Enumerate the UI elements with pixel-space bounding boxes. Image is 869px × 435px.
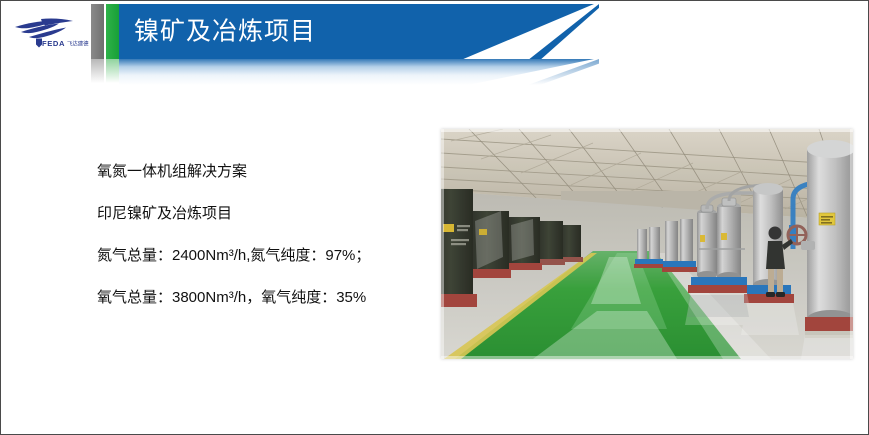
body-line-project: 印尼镍矿及冶炼项目 bbox=[97, 206, 437, 221]
page-title: 镍矿及冶炼项目 bbox=[134, 19, 316, 44]
green-accent-bar bbox=[106, 4, 119, 59]
grey-accent-bar-reflection bbox=[91, 59, 104, 83]
body-line-oxygen-spec: 氧气总量：3800Nm³/h，氧气纯度：35% bbox=[97, 290, 437, 305]
logo-subtext: 飞达建德 bbox=[67, 40, 89, 48]
plant-interior-illustration bbox=[441, 129, 853, 359]
slide-header: FEDA 飞达建德 镍矿及冶炼项目 bbox=[1, 1, 869, 87]
green-accent-bar-reflection bbox=[106, 59, 119, 83]
logo-wordmark: FEDA bbox=[42, 39, 65, 48]
grey-accent-bar bbox=[91, 4, 104, 59]
body-text-block: 氧氮一体机组解决方案 印尼镍矿及冶炼项目 氮气总量：2400Nm³/h,氮气纯度… bbox=[97, 164, 437, 305]
title-banner-reflection bbox=[119, 59, 594, 85]
feda-logo: FEDA 飞达建德 bbox=[11, 13, 89, 51]
slide-canvas: FEDA 飞达建德 镍矿及冶炼项目 氧氮一体机组解决方案 印尼镍矿及冶炼项目 氮… bbox=[0, 0, 869, 435]
body-line-nitrogen-spec: 氮气总量：2400Nm³/h,氮气纯度：97%； bbox=[97, 248, 437, 263]
title-banner: 镍矿及冶炼项目 bbox=[119, 4, 594, 59]
feda-logo-mark: FEDA 飞达建德 bbox=[11, 13, 89, 51]
body-line-solution: 氧氮一体机组解决方案 bbox=[97, 164, 437, 179]
project-photo bbox=[441, 129, 853, 359]
